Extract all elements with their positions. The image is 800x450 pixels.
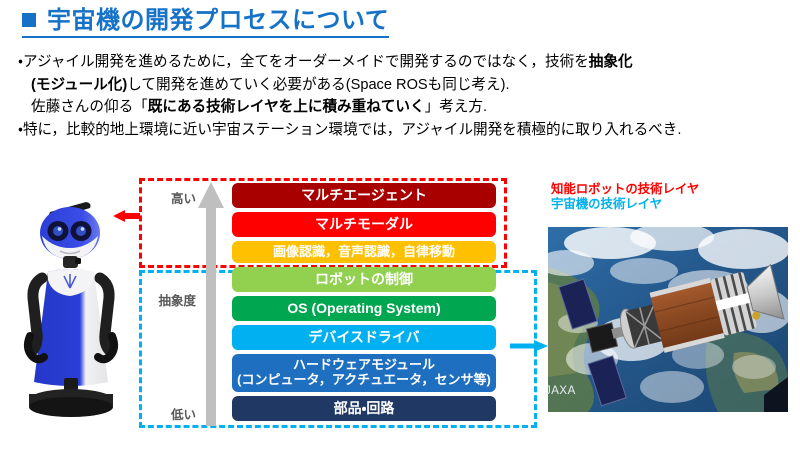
layer-label: 画像認識，音声認識，自律移動	[273, 245, 455, 260]
body-line-2-bold: (モジュール化)	[31, 77, 127, 93]
layer-label: ハードウェアモジュール (コンピュータ，アクチュエータ，センサ等)	[237, 358, 491, 387]
title-bullet-icon	[22, 13, 36, 27]
axis-label-high: 高い	[140, 188, 196, 207]
layer-label: OS (Operating System)	[287, 301, 440, 317]
layer-box[interactable]: マルチモーダル	[232, 212, 496, 237]
body-line-4-pre: ・特に，比較的地上環境に近い宇宙ステーション環境では，アジャイル開発を積極的に取…	[18, 122, 681, 138]
technology-layer-stack: マルチエージェントマルチモーダル画像認識，音声認識，自律移動ロボットの制御OS …	[232, 183, 496, 425]
body-line-1: ・アジャイル開発を進めるために，全てをオーダーメイドで開発するのではなく，技術を…	[18, 51, 790, 74]
body-line-1-pre: ・アジャイル開発を進めるために，全てをオーダーメイドで開発するのではなく，技術を	[18, 54, 589, 70]
layer-box[interactable]: OS (Operating System)	[232, 296, 496, 321]
slide-canvas: 宇宙機の開発プロセスについて ・アジャイル開発を進めるために，全てをオーダーメイ…	[0, 0, 800, 450]
legend-item-spacecraft-layer: 宇宙機の技術レイヤ	[551, 197, 699, 212]
spacecraft-photo	[548, 227, 788, 412]
body-line-3-bold: 既にある技術レイヤを上に積み重ねていく	[148, 99, 425, 115]
title-text: 宇宙機の開発プロセスについて	[47, 8, 389, 34]
photo-credit-jaxa: JAXA	[545, 385, 576, 397]
axis-label-abstraction: 抽象度	[140, 290, 196, 309]
abstraction-axis-arrow-icon	[197, 182, 225, 426]
layer-box[interactable]: ハードウェアモジュール (コンピュータ，アクチュエータ，センサ等)	[232, 354, 496, 392]
body-line-2: (モジュール化)して開発を進めていく必要がある(Space ROSも同じ考え).	[18, 74, 790, 97]
spacecraft-group-connector-arrow	[508, 336, 550, 356]
layer-box[interactable]: 画像認識，音声認識，自律移動	[232, 241, 496, 263]
layer-label: ロボットの制御	[315, 272, 413, 288]
page-title: 宇宙機の開発プロセスについて	[22, 8, 389, 38]
robot-group-connector-arrow	[112, 206, 142, 226]
layer-label: マルチモーダル	[315, 217, 413, 233]
legend-item-robot-layer: 知能ロボットの技術レイヤ	[551, 182, 699, 197]
body-line-2-post: して開発を進めていく必要がある(Space ROSも同じ考え).	[127, 77, 509, 93]
body-line-1-bold: 抽象化	[589, 54, 633, 70]
axis-label-low: 低い	[140, 404, 196, 423]
layer-box[interactable]: マルチエージェント	[232, 183, 496, 208]
layer-box[interactable]: ロボットの制御	[232, 267, 496, 292]
body-line-3-post: 」考え方.	[425, 99, 487, 115]
legend: 知能ロボットの技術レイヤ 宇宙機の技術レイヤ	[551, 182, 699, 212]
layer-box[interactable]: デバイスドライバ	[232, 325, 496, 350]
layer-label: マルチエージェント	[301, 188, 427, 204]
body-line-3: 佐藤さんの仰る「既にある技術レイヤを上に積み重ねていく」考え方.	[18, 96, 790, 119]
body-text: ・アジャイル開発を進めるために，全てをオーダーメイドで開発するのではなく，技術を…	[18, 51, 790, 141]
layer-label: デバイスドライバ	[308, 330, 419, 346]
body-line-3-pre: 佐藤さんの仰る「	[31, 99, 148, 115]
layer-label: 部品・回路	[334, 401, 395, 417]
layer-box[interactable]: 部品・回路	[232, 396, 496, 421]
body-line-4: ・特に，比較的地上環境に近い宇宙ステーション環境では，アジャイル開発を積極的に取…	[18, 119, 790, 142]
